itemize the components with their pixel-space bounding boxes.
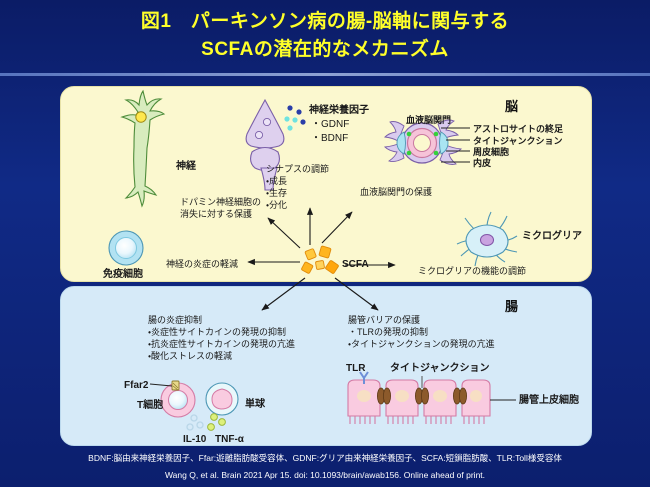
neurotrophic-item-0: ・GDNF xyxy=(311,118,349,132)
figure-title: 図1 パーキンソン病の腸-脳軸に関与する SCFAの潜在的なメカニズム xyxy=(0,0,650,72)
microglia-label: ミクログリア xyxy=(522,230,582,244)
neurotrophic-heading: 神経栄養因子 xyxy=(309,104,369,118)
immune-cell-label: 免疫細胞 xyxy=(103,268,143,282)
monocyte-label: 単球 xyxy=(245,398,265,412)
bbb-label-astrocyte: アストロサイトの終足 xyxy=(473,123,563,135)
gut-region-label: 腸 xyxy=(505,296,518,315)
neuron-label: 神経 xyxy=(176,160,196,174)
scfa-label: SCFA xyxy=(342,258,369,272)
tlr-label: TLR xyxy=(346,362,365,376)
tight-junction-label: タイトジャンクション xyxy=(390,362,490,376)
title-divider xyxy=(0,73,650,76)
abbreviations-note: BDNF:脳由来神経栄養因子、Ffar:遊離脂肪酸受容体、GDNF:グリア由来神… xyxy=(0,452,650,464)
neuron-effect-text: ドパミン神経細胞の 消失に対する保護 xyxy=(180,196,261,220)
title-line-1: 図1 パーキンソン病の腸-脳軸に関与する xyxy=(141,8,509,36)
t-cell-label: T細胞 xyxy=(137,399,163,413)
synapse-item-2: ・分化 xyxy=(266,199,287,211)
immune-effect-text: 神経の炎症の軽減 xyxy=(166,258,238,270)
tnfa-label: TNF-α xyxy=(215,433,244,447)
citation-note: Wang Q, et al. Brain 2021 Apr 15. doi: 1… xyxy=(0,470,650,480)
bbb-label-endothelium: 内皮 xyxy=(473,157,491,169)
synapse-heading: シナプスの調節 xyxy=(266,163,329,175)
synapse-item-1: ・生存 xyxy=(266,187,287,199)
brain-region-label: 脳 xyxy=(505,96,518,115)
gut-right-item-0: ・TLRの発現の抑制 xyxy=(348,326,428,338)
ffar2-label: Ffar2 xyxy=(124,379,148,393)
neurotrophic-item-1: ・BDNF xyxy=(311,132,348,146)
bbb-heading: 血液脳関門 xyxy=(406,114,451,126)
figure-root: 図1 パーキンソン病の腸-脳軸に関与する SCFAの潜在的なメカニズム xyxy=(0,0,650,487)
gut-left-item-2: ・酸化ストレスの軽減 xyxy=(148,350,232,362)
gut-right-heading: 腸管バリアの保護 xyxy=(348,314,420,326)
bbb-effect-text: 血液脳関門の保護 xyxy=(360,186,432,198)
gut-left-item-0: ・炎症性サイトカインの発現の抑制 xyxy=(148,326,286,338)
gut-left-heading: 腸の炎症抑制 xyxy=(148,314,202,326)
il10-label: IL-10 xyxy=(183,433,206,447)
title-line-2: SCFAの潜在的なメカニズム xyxy=(201,36,449,64)
synapse-item-0: ・成長 xyxy=(266,175,287,187)
gut-right-item-1: ・タイトジャンクションの発現の亢進 xyxy=(348,338,495,350)
microglia-effect-text: ミクログリアの機能の調節 xyxy=(418,265,526,277)
gut-left-item-1: ・抗炎症性サイトカインの発現の亢進 xyxy=(148,338,295,350)
epithelial-cell-label: 腸管上皮細胞 xyxy=(519,394,579,408)
